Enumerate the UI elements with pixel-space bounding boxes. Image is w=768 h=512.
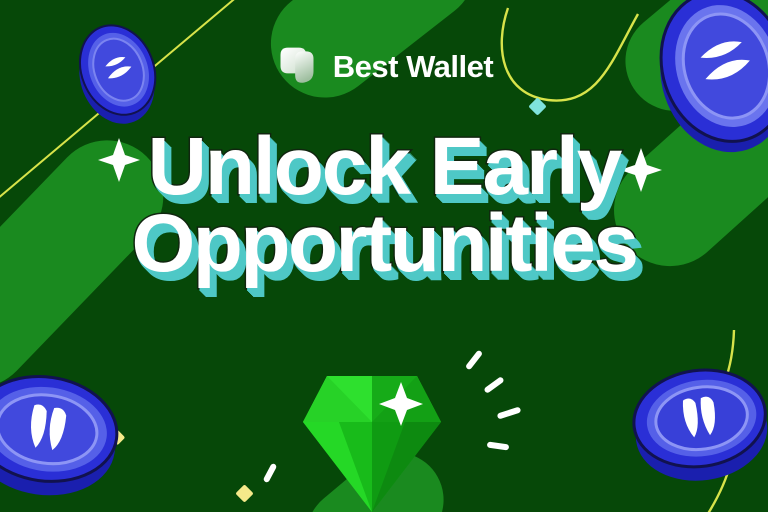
sparkle-diamond-yellow [235, 484, 253, 502]
gem-dash-4 [487, 441, 510, 450]
gem-dash-1 [465, 349, 483, 370]
brand-name: Best Wallet [333, 51, 493, 82]
headline-line-1: Unlock Early [0, 128, 768, 205]
headline: Unlock Early Opportunities [0, 128, 768, 282]
gem-dash-5 [263, 463, 278, 483]
gem-dash-2 [483, 376, 504, 394]
coin-bottom-left [0, 358, 136, 512]
headline-line-2: Opportunities [0, 205, 768, 282]
promo-banner: Best Wallet Unlock Early Opportunities [0, 0, 768, 512]
green-gem-icon [283, 352, 461, 512]
brand-logo: Best Wallet [0, 44, 768, 88]
best-wallet-logo-icon [275, 44, 319, 88]
gem-dash-3 [497, 406, 522, 419]
coin-bottom-right [628, 346, 768, 501]
